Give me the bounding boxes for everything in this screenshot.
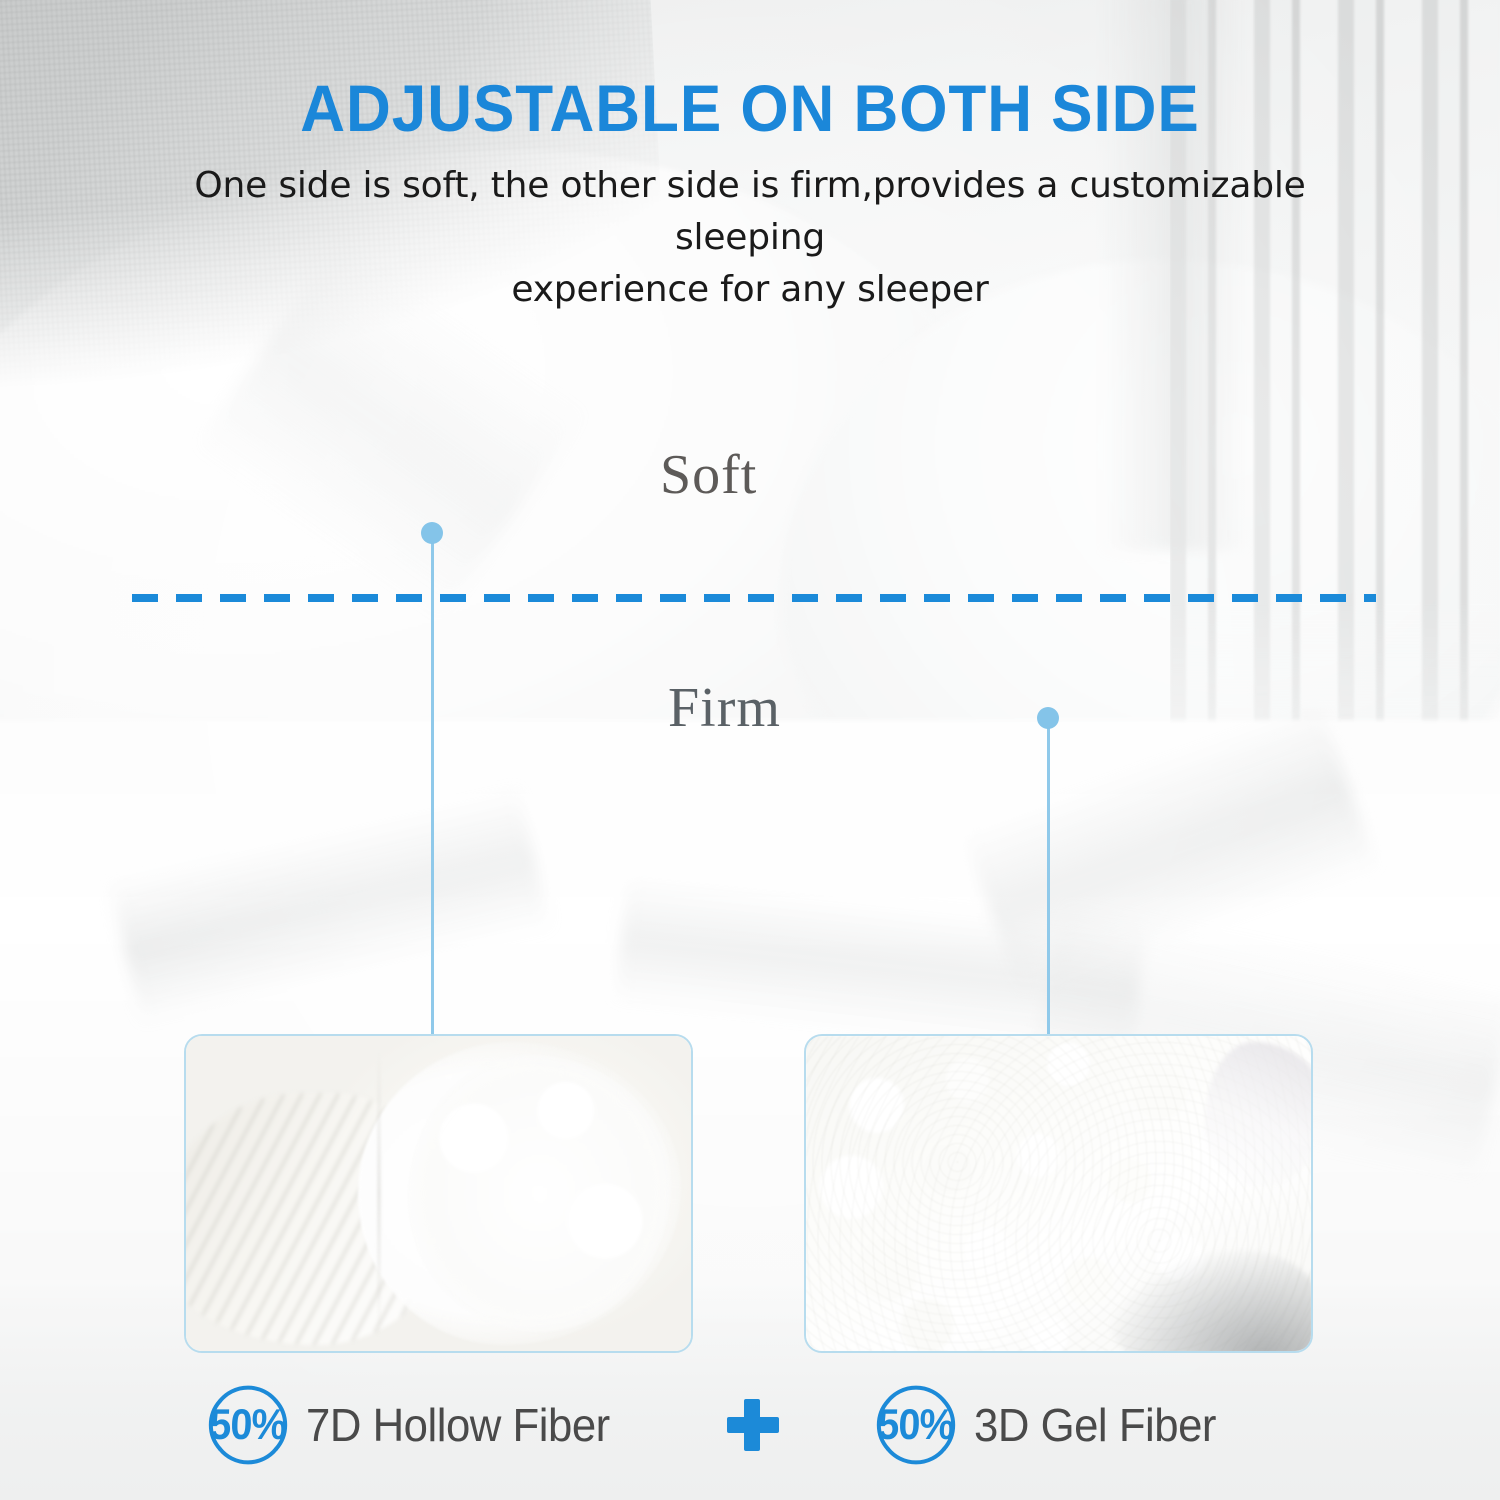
subtitle-line-2: experience for any sleeper bbox=[135, 264, 1365, 316]
percent-value-left: 50% bbox=[209, 1401, 287, 1450]
gel-fiber-photo-card bbox=[804, 1034, 1313, 1353]
plus-icon bbox=[722, 1395, 784, 1457]
percent-badge-right: 50% bbox=[874, 1383, 958, 1467]
page-subtitle: One side is soft, the other side is firm… bbox=[135, 160, 1365, 317]
percent-value-right: 50% bbox=[877, 1401, 955, 1450]
connector-line-left bbox=[431, 533, 434, 1036]
pillow-cross-section-diagram bbox=[110, 340, 1400, 860]
percent-badge-left: 50% bbox=[206, 1383, 290, 1467]
hollow-fiber-photo-card bbox=[184, 1034, 693, 1353]
legend-label-right: 3D Gel Fiber bbox=[974, 1398, 1216, 1452]
connector-dot-right bbox=[1037, 707, 1059, 729]
gel-fiber-fabric-corner bbox=[1205, 1042, 1313, 1187]
subtitle-line-1: One side is soft, the other side is firm… bbox=[135, 160, 1365, 264]
legend-label-left: 7D Hollow Fiber bbox=[306, 1398, 610, 1452]
hollow-fiber-fold-edge bbox=[378, 1049, 380, 1339]
soft-side-label: Soft bbox=[660, 443, 757, 507]
firm-side-label: Firm bbox=[668, 676, 781, 740]
page-title: ADJUSTABLE ON BOTH SIDE bbox=[45, 70, 1455, 146]
connector-line-right bbox=[1047, 718, 1050, 1036]
connector-dot-left bbox=[421, 522, 443, 544]
legend-item-hollow-fiber: 50% 7D Hollow Fiber bbox=[206, 1383, 626, 1467]
infographic-canvas: ADJUSTABLE ON BOTH SIDE One side is soft… bbox=[0, 0, 1500, 1500]
legend-item-gel-fiber: 50% 3D Gel Fiber bbox=[874, 1383, 1229, 1467]
composition-legend: 50% 7D Hollow Fiber 50% 3D Gel Fiber bbox=[0, 1383, 1500, 1493]
